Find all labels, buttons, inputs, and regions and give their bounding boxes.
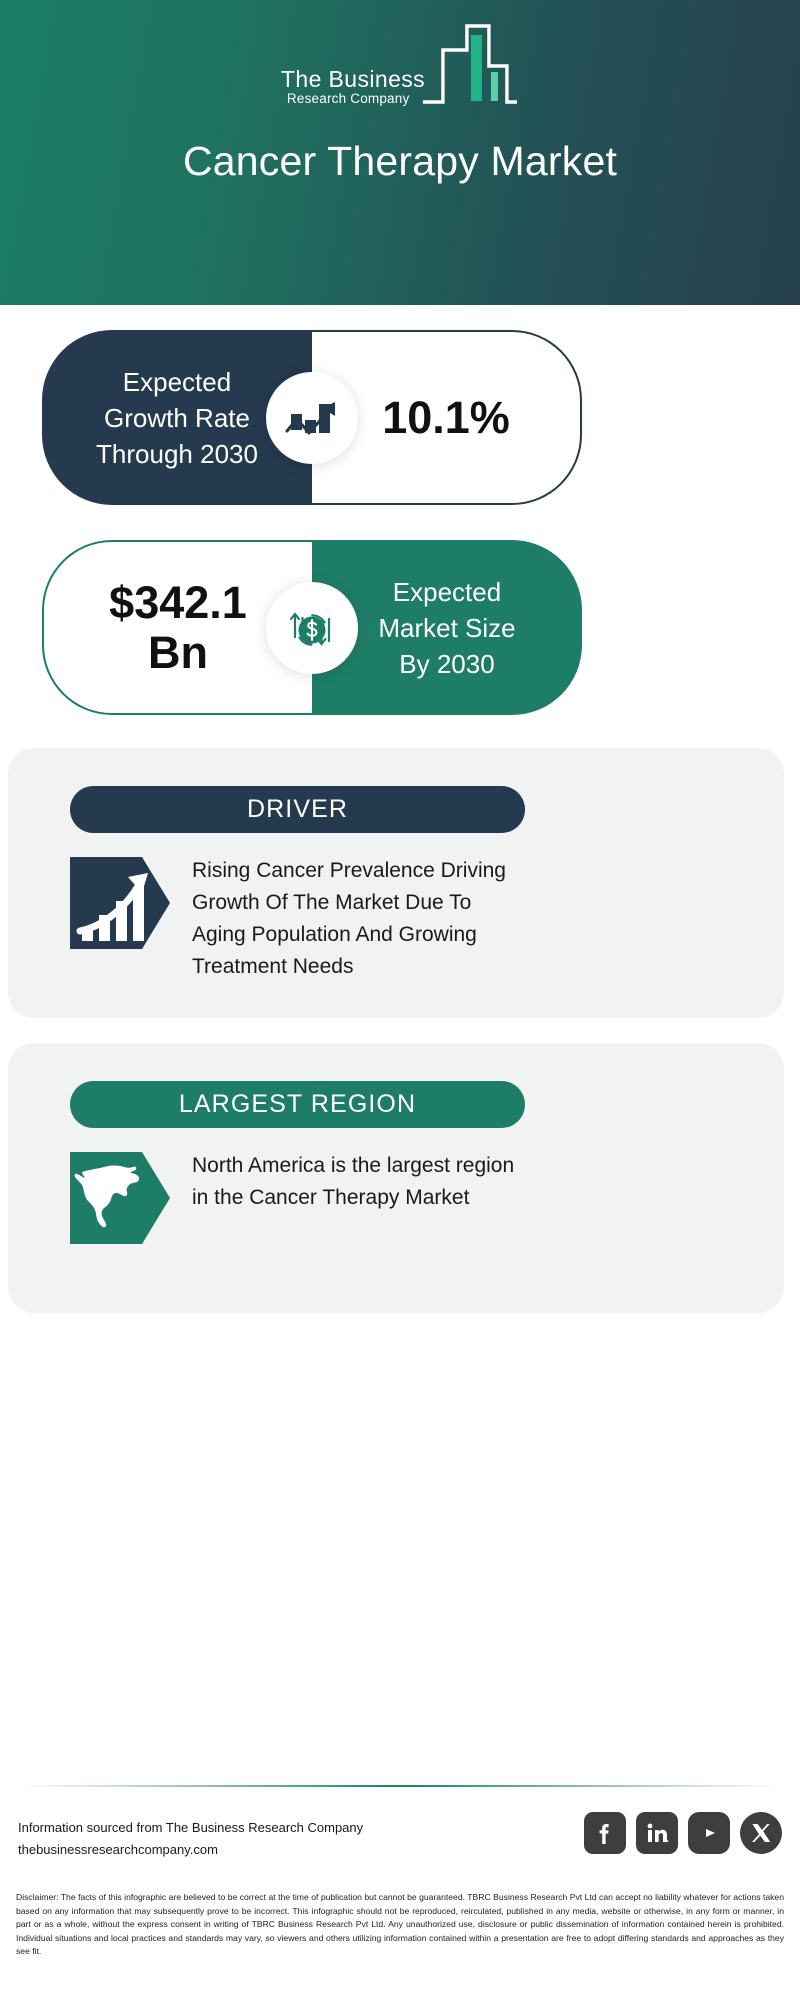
stat-market-value-line2: Bn [109, 628, 247, 678]
growth-bar-chart-arrow-icon [266, 372, 358, 464]
north-america-map-pentagon-icon [70, 1148, 170, 1248]
stat-card-growth-rate: Expected Growth Rate Through 2030 10.1% [42, 330, 582, 505]
stat-market-label-line2: Market Size [378, 610, 515, 646]
stat-market-label-line1: Expected [378, 574, 515, 610]
logo-line-2: Research Company [281, 91, 410, 107]
disclaimer-text: Disclaimer: The facts of this infographi… [16, 1891, 784, 1959]
logo-bars-icon [421, 22, 519, 111]
largest-region-text: North America is the largest region in t… [192, 1148, 522, 1214]
x-twitter-icon[interactable] [740, 1812, 782, 1854]
header-banner: The Business Research Company Cancer The… [0, 0, 800, 305]
stat-market-label-line3: By 2030 [378, 646, 515, 682]
footer-source-line2[interactable]: thebusinessresearchcompany.com [18, 1839, 363, 1861]
page-title: Cancer Therapy Market [0, 138, 800, 185]
dollar-cycle-icon [266, 582, 358, 674]
panel-largest-region: LARGEST REGION North America is the larg… [8, 1043, 784, 1313]
logo-wordmark: The Business Research Company [281, 67, 425, 113]
stat-growth-label: Expected Growth Rate Through 2030 [78, 364, 276, 472]
driver-body: Rising Cancer Prevalence Driving Growth … [70, 853, 744, 983]
footer-divider [20, 1785, 780, 1787]
driver-pill: DRIVER [70, 786, 525, 833]
facebook-icon[interactable] [584, 1812, 626, 1854]
stat-market-label: Expected Market Size By 2030 [360, 574, 533, 682]
stat-growth-label-line3: Through 2030 [96, 436, 258, 472]
stat-growth-label-line1: Expected [96, 364, 258, 400]
largest-region-body: North America is the largest region in t… [70, 1148, 744, 1248]
logo-line-1: The Business [281, 67, 425, 91]
panel-driver: DRIVER Rising Cancer Prevalence Driving … [8, 748, 784, 1018]
stat-growth-value: 10.1% [368, 393, 524, 443]
footer-source: Information sourced from The Business Re… [18, 1817, 363, 1861]
largest-region-pill: LARGEST REGION [70, 1081, 525, 1128]
footer-source-line1: Information sourced from The Business Re… [18, 1817, 363, 1839]
rising-bar-chart-arrow-pentagon-icon [70, 853, 170, 953]
driver-text: Rising Cancer Prevalence Driving Growth … [192, 853, 522, 983]
stat-growth-label-line2: Growth Rate [96, 400, 258, 436]
stat-card-market-size: $342.1 Bn Expected Market Size By 2030 [42, 540, 582, 715]
stat-market-value: $342.1 Bn [95, 578, 261, 678]
company-logo: The Business Research Company [281, 22, 519, 113]
linkedin-icon[interactable] [636, 1812, 678, 1854]
youtube-icon[interactable] [688, 1812, 730, 1854]
infographic-page: The Business Research Company Cancer The… [0, 0, 800, 2000]
social-links [584, 1812, 782, 1854]
stat-market-value-line1: $342.1 [109, 578, 247, 628]
